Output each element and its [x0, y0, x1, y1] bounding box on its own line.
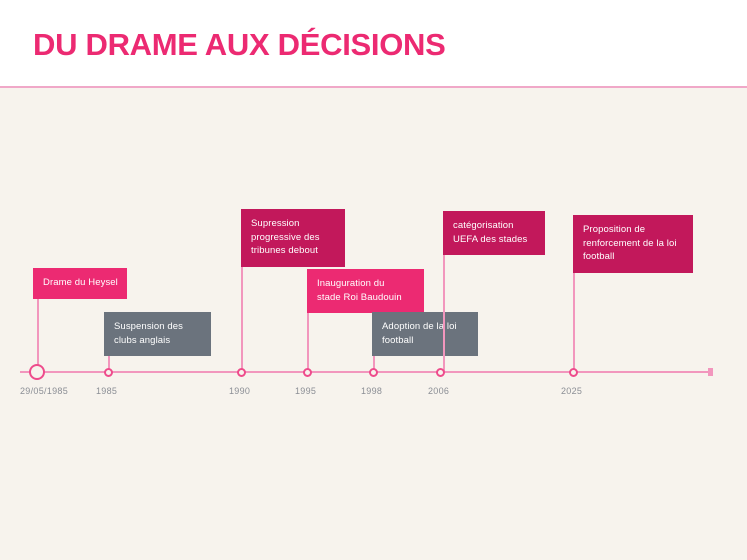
event-label-line: tribunes debout — [251, 244, 335, 258]
timeline-tick-label: 1995 — [295, 385, 316, 397]
event-connector-inauguration-du-stade-roi-baudouin — [307, 310, 309, 372]
timeline-marker-2006[interactable] — [436, 368, 445, 377]
event-card-proposition-de-renforcement-de-la-loi-football[interactable]: Proposition derenforcement de la loifoot… — [573, 215, 693, 273]
event-card-supression-progressive-des-tribunes-debout[interactable]: Supressionprogressive destribunes debout — [241, 209, 345, 267]
timeline-marker-2025[interactable] — [569, 368, 578, 377]
event-label-line: stade Roi Baudouin — [317, 291, 414, 305]
page-title: DU DRAME AUX DÉCISIONS — [33, 26, 446, 64]
event-label-line: UEFA des stades — [453, 233, 535, 247]
timeline-marker-1985[interactable] — [104, 368, 113, 377]
timeline-tick-label: 2006 — [428, 385, 449, 397]
event-label-line: catégorisation — [453, 219, 535, 233]
timeline-tick-label: 1998 — [361, 385, 382, 397]
timeline-marker-29-05-1985[interactable] — [29, 364, 45, 380]
event-label-line: Proposition de — [583, 223, 683, 237]
timeline-tick-label: 1985 — [96, 385, 117, 397]
header-divider — [0, 86, 747, 88]
event-label-line: Adoption de la loi — [382, 320, 468, 334]
timeline-tick-label: 1990 — [229, 385, 250, 397]
event-label-line: Suspension des — [114, 320, 201, 334]
timeline-tick-label: 2025 — [561, 385, 582, 397]
event-label-line: renforcement de la loi — [583, 237, 683, 251]
event-label-line: clubs anglais — [114, 334, 201, 348]
timeline-slide: DU DRAME AUX DÉCISIONS Drame du HeyselSu… — [0, 0, 747, 560]
event-card-drame-du-heysel[interactable]: Drame du Heysel — [33, 268, 127, 299]
event-connector-proposition-de-renforcement-de-la-loi-football — [573, 260, 575, 372]
event-card-adoption-de-la-loi-football[interactable]: Adoption de la loifootball — [372, 312, 478, 356]
slide-header: DU DRAME AUX DÉCISIONS — [0, 0, 747, 88]
event-connector-drame-du-heysel — [37, 295, 39, 372]
event-label-line: progressive des — [251, 231, 335, 245]
timeline-axis-end-arrow — [708, 368, 713, 376]
event-label-line: Drame du Heysel — [43, 276, 117, 290]
event-card-categorisation-uefa-des-stades[interactable]: catégorisationUEFA des stades — [443, 211, 545, 255]
timeline-marker-1998[interactable] — [369, 368, 378, 377]
timeline-tick-label: 29/05/1985 — [20, 385, 68, 397]
event-connector-supression-progressive-des-tribunes-debout — [241, 253, 243, 372]
event-label-line: Inauguration du — [317, 277, 414, 291]
event-label-line: football — [382, 334, 468, 348]
event-label-line: Supression — [251, 217, 335, 231]
timeline-marker-1990[interactable] — [237, 368, 246, 377]
event-card-inauguration-du-stade-roi-baudouin[interactable]: Inauguration dustade Roi Baudouin — [307, 269, 424, 313]
timeline-marker-1995[interactable] — [303, 368, 312, 377]
event-label-line: football — [583, 250, 683, 264]
timeline-axis — [20, 371, 711, 373]
event-card-suspension-des-clubs-anglais[interactable]: Suspension desclubs anglais — [104, 312, 211, 356]
event-connector-categorisation-uefa-des-stades — [443, 252, 445, 372]
